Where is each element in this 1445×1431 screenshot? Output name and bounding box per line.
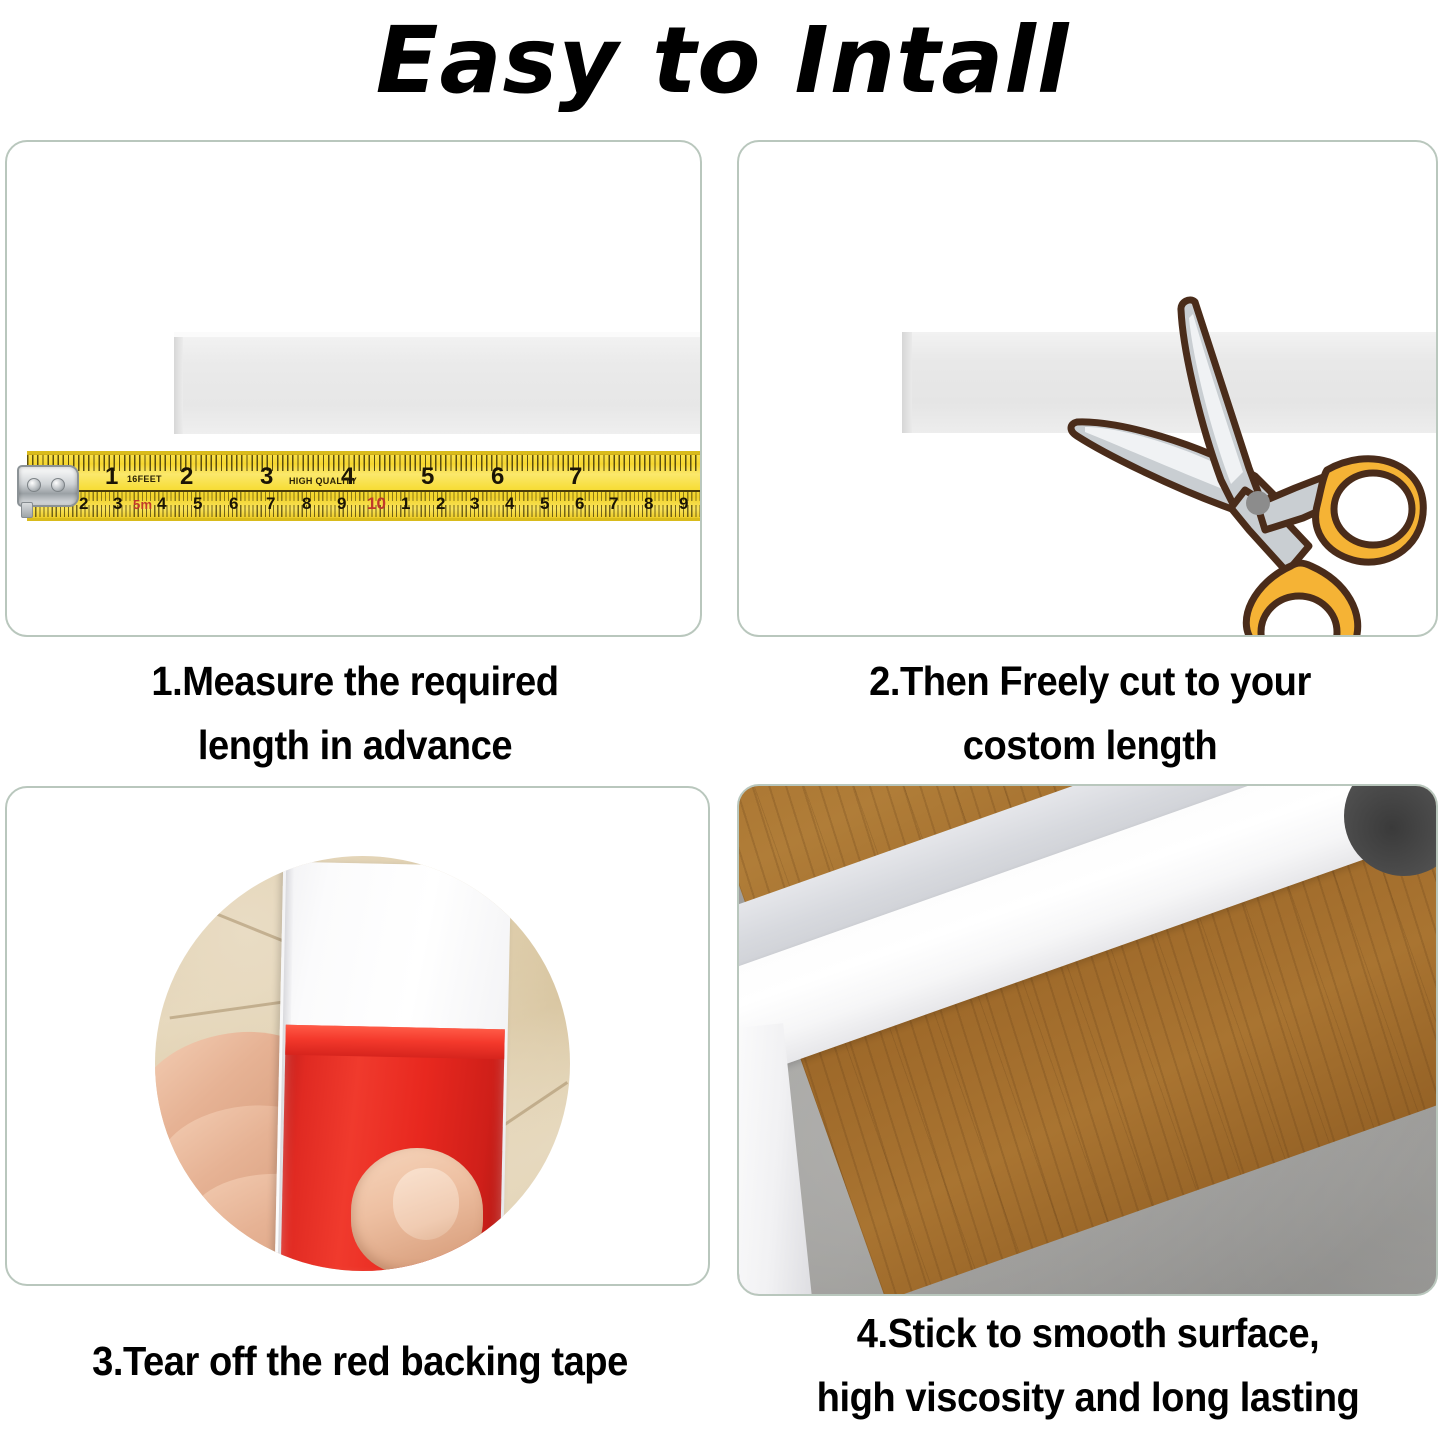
tape-edge-bottom xyxy=(27,518,702,521)
tape-cm-mark: 1 xyxy=(401,494,410,514)
caption-line: 2.Then Freely cut to your xyxy=(783,650,1397,714)
caption-cut-step: 2.Then Freely cut to your costom length xyxy=(783,650,1397,777)
caption-line: 1.Measure the required xyxy=(53,650,658,714)
tape-hook-rivet xyxy=(27,478,41,492)
caption-line: length in advance xyxy=(53,714,658,778)
caption-line: high viscosity and long lasting xyxy=(760,1366,1417,1430)
caption-line: 4.Stick to smooth surface, xyxy=(760,1302,1417,1366)
tape-cm-mark: 8 xyxy=(302,494,311,514)
tape-quality-text: HIGH QUALITY xyxy=(289,476,357,486)
tape-cm-mark: 9 xyxy=(337,494,346,514)
caption-stick-step: 4.Stick to smooth surface, high viscosit… xyxy=(760,1302,1417,1429)
thumb xyxy=(351,1148,483,1271)
tape-metal-hook xyxy=(17,465,79,507)
tape-inch-mark: 1 xyxy=(105,463,118,491)
tape-cm-mark: 2 xyxy=(436,494,445,514)
tape-cm-mark: 6 xyxy=(575,494,584,514)
scissors-icon xyxy=(1059,294,1429,637)
caption-peel-step: 3.Tear off the red backing tape xyxy=(30,1330,690,1394)
peel-backing-photo xyxy=(155,856,570,1271)
panel-measure-step: 1 2 3 4 5 6 7 2 3 4 5 6 7 8 9 10 1 2 3 4… xyxy=(5,140,702,637)
tape-cm-mark: 5 xyxy=(193,494,202,514)
tape-inch-mark: 6 xyxy=(491,463,504,491)
tape-cm-mark: 2 xyxy=(79,494,88,514)
tape-metric-label: 5m xyxy=(133,497,152,512)
tape-edge-top xyxy=(27,451,702,454)
tape-inch-mark: 5 xyxy=(421,463,434,491)
tape-cm-mark: 9 xyxy=(679,494,688,514)
tape-cm-mark: 4 xyxy=(157,494,166,514)
caption-measure-step: 1.Measure the required length in advance xyxy=(53,650,658,777)
tape-ticks-inch xyxy=(27,455,702,471)
panel-cut-step xyxy=(737,140,1438,637)
tape-hook-rivet xyxy=(51,478,65,492)
tape-cm-mark: 8 xyxy=(644,494,653,514)
tape-cm-mark: 3 xyxy=(470,494,479,514)
tape-ticks-mid xyxy=(27,492,702,501)
tape-cm-mark: 10 xyxy=(367,494,386,514)
tape-inch-mark: 7 xyxy=(569,463,582,491)
panel-peel-step xyxy=(5,786,710,1286)
page-title: Easy to Intall xyxy=(0,0,1445,120)
tape-brand-text: 16FEET xyxy=(127,474,162,484)
installed-baseboard-photo xyxy=(739,786,1436,1294)
red-backing-fold xyxy=(285,1025,505,1060)
tape-strip-illustration xyxy=(174,332,702,434)
tape-inch-mark: 3 xyxy=(260,463,273,491)
caption-line: 3.Tear off the red backing tape xyxy=(30,1330,690,1394)
thumbnail xyxy=(393,1168,459,1240)
caption-line: costom length xyxy=(783,714,1397,778)
tape-cm-mark: 7 xyxy=(609,494,618,514)
tape-cm-mark: 5 xyxy=(540,494,549,514)
tape-inch-mark: 2 xyxy=(180,463,193,491)
panel-stick-step xyxy=(737,784,1438,1296)
tape-hook-tab xyxy=(21,502,33,518)
tape-cm-mark: 7 xyxy=(266,494,275,514)
measuring-tape-illustration: 1 2 3 4 5 6 7 2 3 4 5 6 7 8 9 10 1 2 3 4… xyxy=(17,447,702,525)
tape-cm-mark: 3 xyxy=(113,494,122,514)
tape-cm-mark: 4 xyxy=(505,494,514,514)
tape-ticks-metric xyxy=(27,505,702,517)
tape-cm-mark: 6 xyxy=(229,494,238,514)
